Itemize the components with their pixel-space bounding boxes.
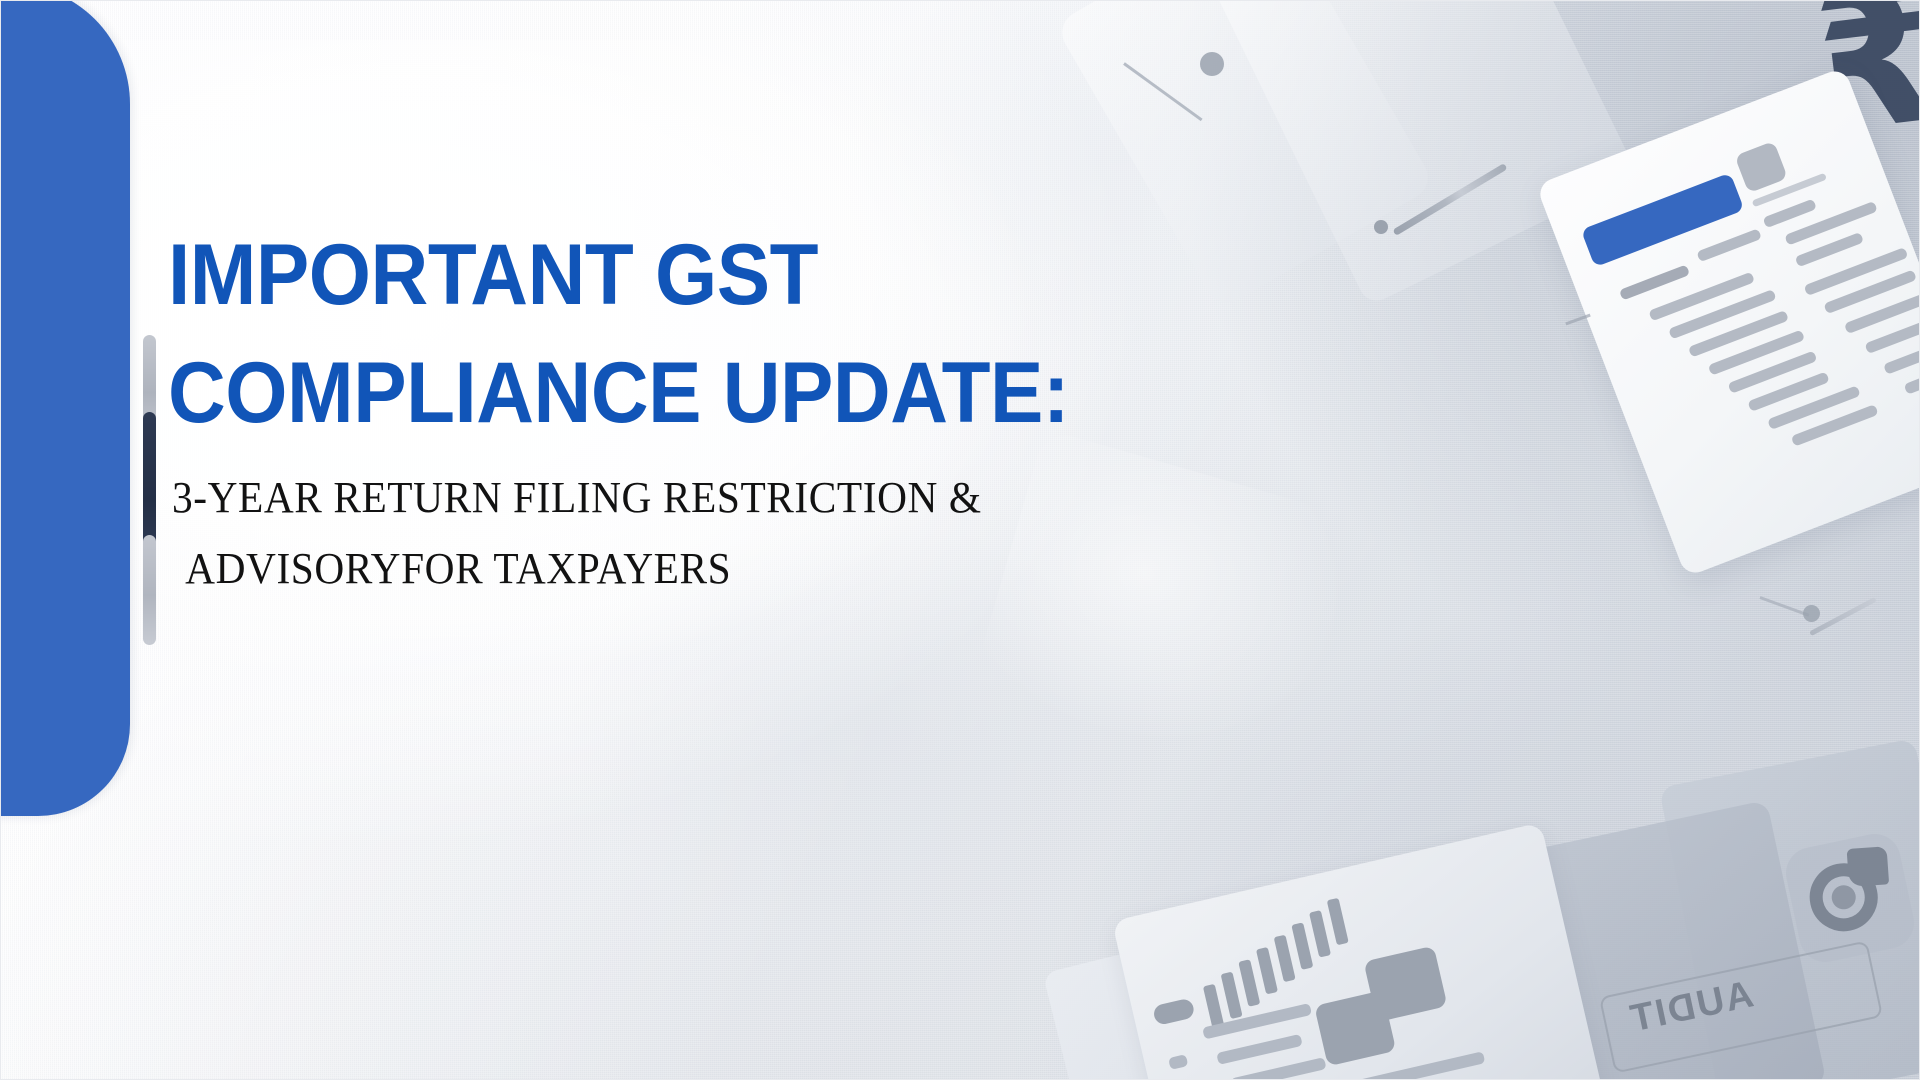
form-block — [1152, 997, 1195, 1025]
form-bar — [1309, 910, 1331, 958]
subheadline-line-2: ADVISORYFOR TAXPAYERS — [172, 533, 1300, 604]
banner-canvas: ₹ — [0, 0, 1920, 1080]
form-bar — [1256, 947, 1278, 995]
pin-dot-icon-2 — [1803, 605, 1820, 622]
headline: IMPORTANT GST COMPLIANCE UPDATE: — [168, 216, 1348, 452]
form-line — [1230, 1057, 1326, 1080]
form-line — [1216, 1034, 1302, 1065]
invoice-text-line — [1883, 342, 1920, 375]
form-bar — [1274, 935, 1296, 983]
pen-tip-icon — [1374, 220, 1388, 234]
invoice-text-line — [1904, 365, 1920, 395]
form-line — [1168, 1054, 1188, 1070]
form-bar — [1327, 898, 1349, 946]
form-block — [1363, 946, 1447, 1023]
pin-dot-icon — [1200, 52, 1224, 76]
invoice-logo-block — [1734, 141, 1788, 193]
invoice-text-line — [1696, 228, 1762, 262]
stamp-flag — [1847, 846, 1890, 887]
invoice-text-line — [1619, 264, 1690, 300]
invoice-text-line — [1763, 199, 1817, 229]
form-bar — [1221, 972, 1243, 1020]
headline-line-1: IMPORTANT GST — [168, 216, 1265, 334]
subheadline-line-1: 3-YEAR RETURN FILING RESTRICTION & — [172, 462, 1300, 533]
form-bar — [1238, 959, 1260, 1007]
accent-pill-bottom — [143, 535, 156, 645]
subheadline: 3-YEAR RETURN FILING RESTRICTION & ADVIS… — [172, 462, 1372, 604]
headline-line-2: COMPLIANCE UPDATE: — [168, 334, 1265, 452]
form-bar — [1291, 922, 1313, 970]
left-blue-panel — [0, 0, 130, 816]
